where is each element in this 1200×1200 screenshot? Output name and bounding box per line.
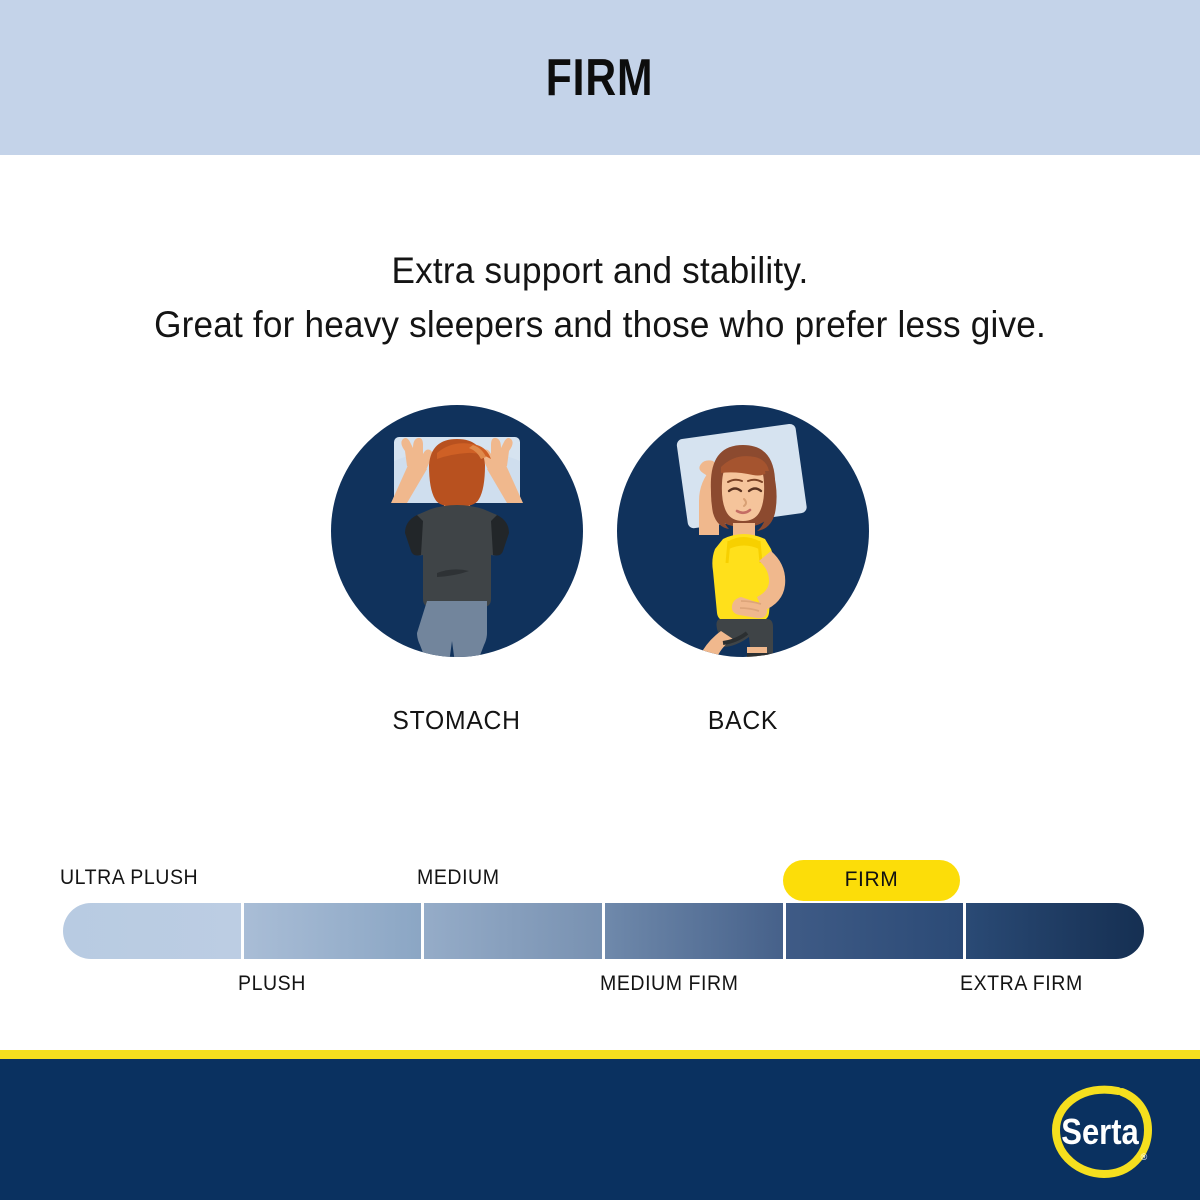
scale-label-medium: MEDIUM — [417, 866, 500, 890]
serta-logo-text: Serta — [1061, 1113, 1139, 1153]
scale-labels-bottom: PLUSH MEDIUM FIRM EXTRA FIRM — [0, 972, 1200, 1006]
scale-label-ultra-plush: ULTRA PLUSH — [60, 866, 198, 890]
scale-label-medium-firm: MEDIUM FIRM — [600, 972, 738, 996]
scale-labels-top: ULTRA PLUSH MEDIUM FIRM — [0, 860, 1200, 894]
position-stomach: STOMACH — [328, 405, 586, 736]
position-label-stomach: STOMACH — [393, 705, 521, 736]
bar-segment-plush[interactable] — [244, 903, 422, 959]
footer-accent-stripe — [0, 1050, 1200, 1059]
serta-logo: Serta ® — [1048, 1082, 1156, 1178]
firmness-bar[interactable] — [63, 903, 1144, 959]
header-band: FIRM — [0, 0, 1200, 155]
bar-segment-medium[interactable] — [424, 903, 602, 959]
back-sleeper-illustration — [617, 405, 869, 657]
footer-band: Serta ® — [0, 1059, 1200, 1200]
stomach-sleeper-icon — [331, 405, 583, 657]
serta-logo-trademark: ® — [1141, 1152, 1148, 1162]
sleep-positions: STOMACH — [0, 405, 1200, 736]
position-back: BACK — [614, 405, 872, 736]
firmness-infographic: FIRM Extra support and stability. Great … — [0, 0, 1200, 1200]
scale-label-firm-selected[interactable]: FIRM — [783, 860, 960, 901]
subtitle-line-1: Extra support and stability. — [30, 244, 1170, 298]
bar-segment-medium-firm[interactable] — [605, 903, 783, 959]
serta-logo-icon: Serta ® — [1048, 1082, 1156, 1178]
subtitle-block: Extra support and stability. Great for h… — [0, 244, 1200, 351]
subtitle-line-2: Great for heavy sleepers and those who p… — [30, 298, 1170, 352]
bar-segment-ultra-plush[interactable] — [63, 903, 241, 959]
firmness-scale: ULTRA PLUSH MEDIUM FIRM PLUSH MEDIUM FIR… — [0, 860, 1200, 1010]
position-label-back: BACK — [708, 705, 778, 736]
scale-label-extra-firm: EXTRA FIRM — [960, 972, 1083, 996]
scale-label-plush: PLUSH — [238, 972, 306, 996]
back-sleeper-icon — [617, 405, 869, 657]
bar-segment-extra-firm[interactable] — [966, 903, 1144, 959]
bar-segment-firm[interactable] — [786, 903, 964, 959]
page-title: FIRM — [546, 48, 653, 108]
stomach-sleeper-illustration — [331, 405, 583, 657]
